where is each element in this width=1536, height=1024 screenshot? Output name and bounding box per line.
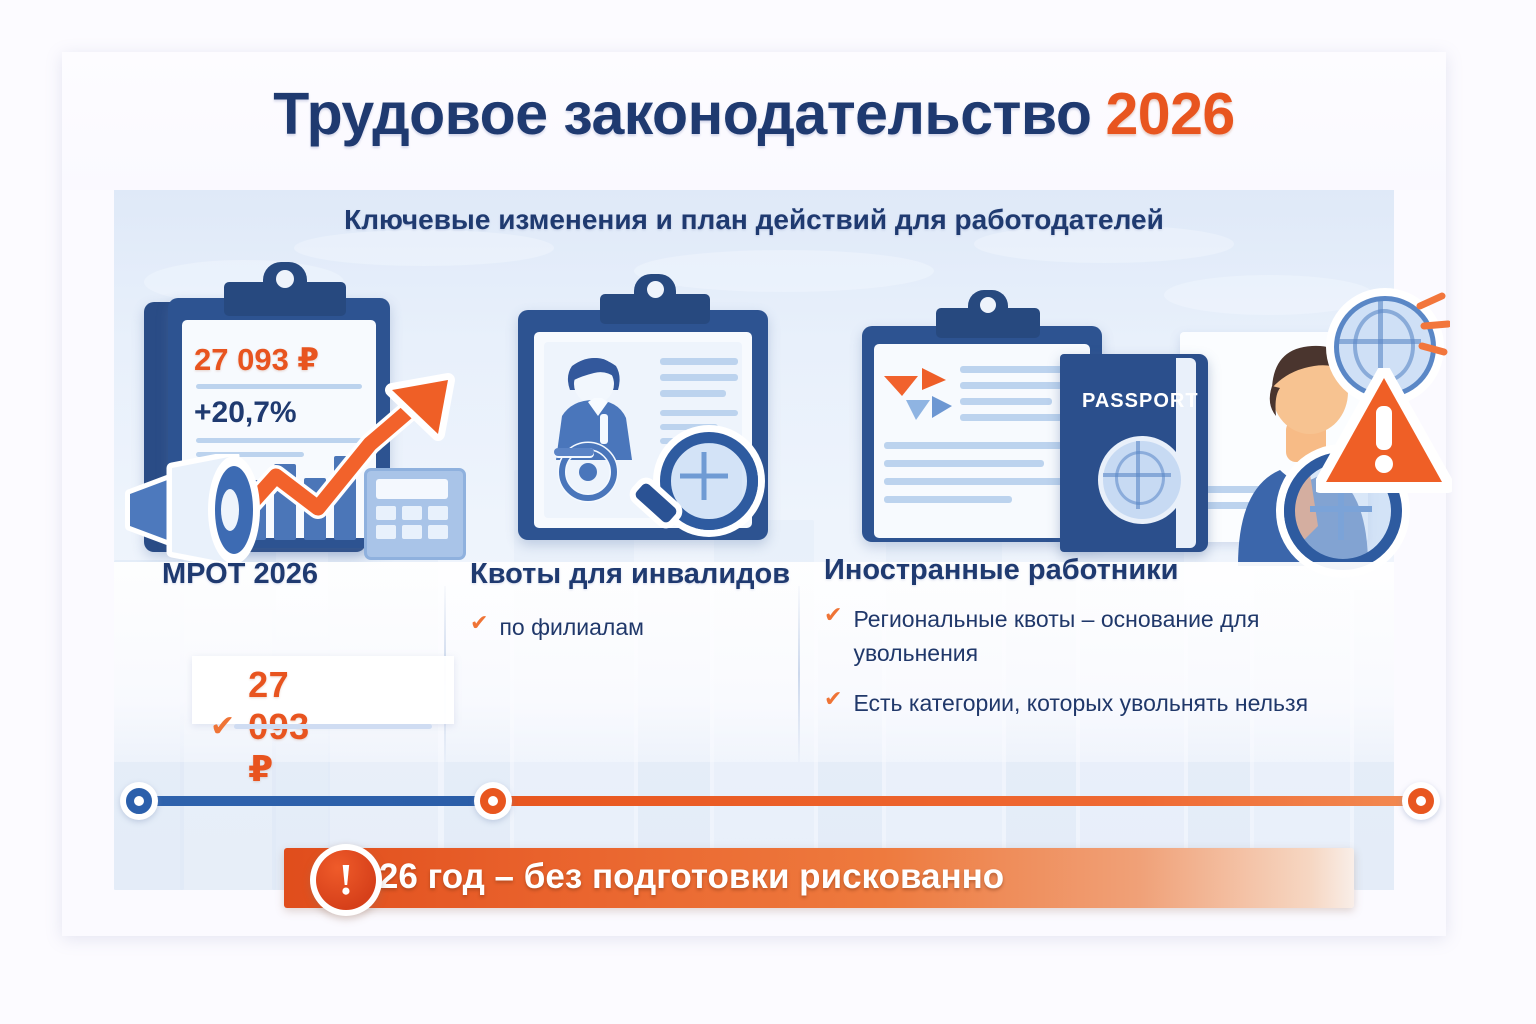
page-title: Трудовое законодательство2026: [62, 80, 1446, 148]
timeline-segment-1: [138, 796, 498, 806]
page-title-year: 2026: [1105, 81, 1234, 147]
warning-banner-text: 2026 год – без подготовки рискованно: [340, 857, 1004, 897]
card-foreign-bullet-1: ✔ Региональные квоты – основание для уво…: [824, 602, 1326, 670]
check-icon: ✔: [470, 610, 488, 636]
card-quotas-bullet-1: ✔ по филиалам: [470, 610, 770, 644]
card-quotas-title: Квоты для инвалидов: [470, 558, 790, 591]
check-icon: ✔: [824, 602, 842, 628]
quotas-illustration: [482, 282, 812, 562]
exclamation-icon: !: [310, 844, 382, 916]
page-title-main: Трудовое законодательство: [273, 81, 1091, 147]
card-mrot-underline: [234, 724, 432, 729]
foreign-illustration: PASSPORT: [832, 274, 1442, 564]
calculator-icon: [364, 468, 466, 560]
bullet-text: Есть категории, которых увольнять нельзя: [853, 686, 1308, 720]
check-icon: ✔: [824, 686, 842, 712]
wheelchair-person-icon: [544, 344, 654, 514]
timeline-node-1[interactable]: [120, 782, 158, 820]
timeline-segment-2: [492, 796, 1420, 806]
check-icon: ✔: [210, 712, 235, 742]
timeline-node-3[interactable]: [1402, 782, 1440, 820]
poster: Трудовое законодательство2026: [62, 52, 1446, 936]
card-foreign-title: Иностранные работники: [824, 554, 1179, 587]
timeline: [114, 772, 1394, 828]
warning-triangle-icon: [1316, 368, 1452, 494]
mrot-illustration: 27 093 ₽ +20,7%: [132, 272, 462, 562]
card-mrot-title: МРОТ 2026: [162, 558, 318, 591]
infographic-stage: Трудовое законодательство2026: [0, 0, 1536, 1024]
timeline-node-2[interactable]: [474, 782, 512, 820]
subtitle: Ключевые изменения и план действий для р…: [62, 204, 1446, 236]
warning-banner[interactable]: 2026 год – без подготовки рискованно: [284, 848, 1354, 908]
card-foreign-bullet-2: ✔ Есть категории, которых увольнять нель…: [824, 686, 1394, 720]
exclamation-glyph: !: [339, 858, 354, 902]
card-divider-2: [798, 586, 800, 762]
megaphone-icon: [122, 454, 304, 564]
passport-label: PASSPORT: [1082, 390, 1199, 413]
bullet-text: по филиалам: [499, 610, 644, 644]
bullet-text: Региональные квоты – основание для уволь…: [853, 602, 1326, 670]
